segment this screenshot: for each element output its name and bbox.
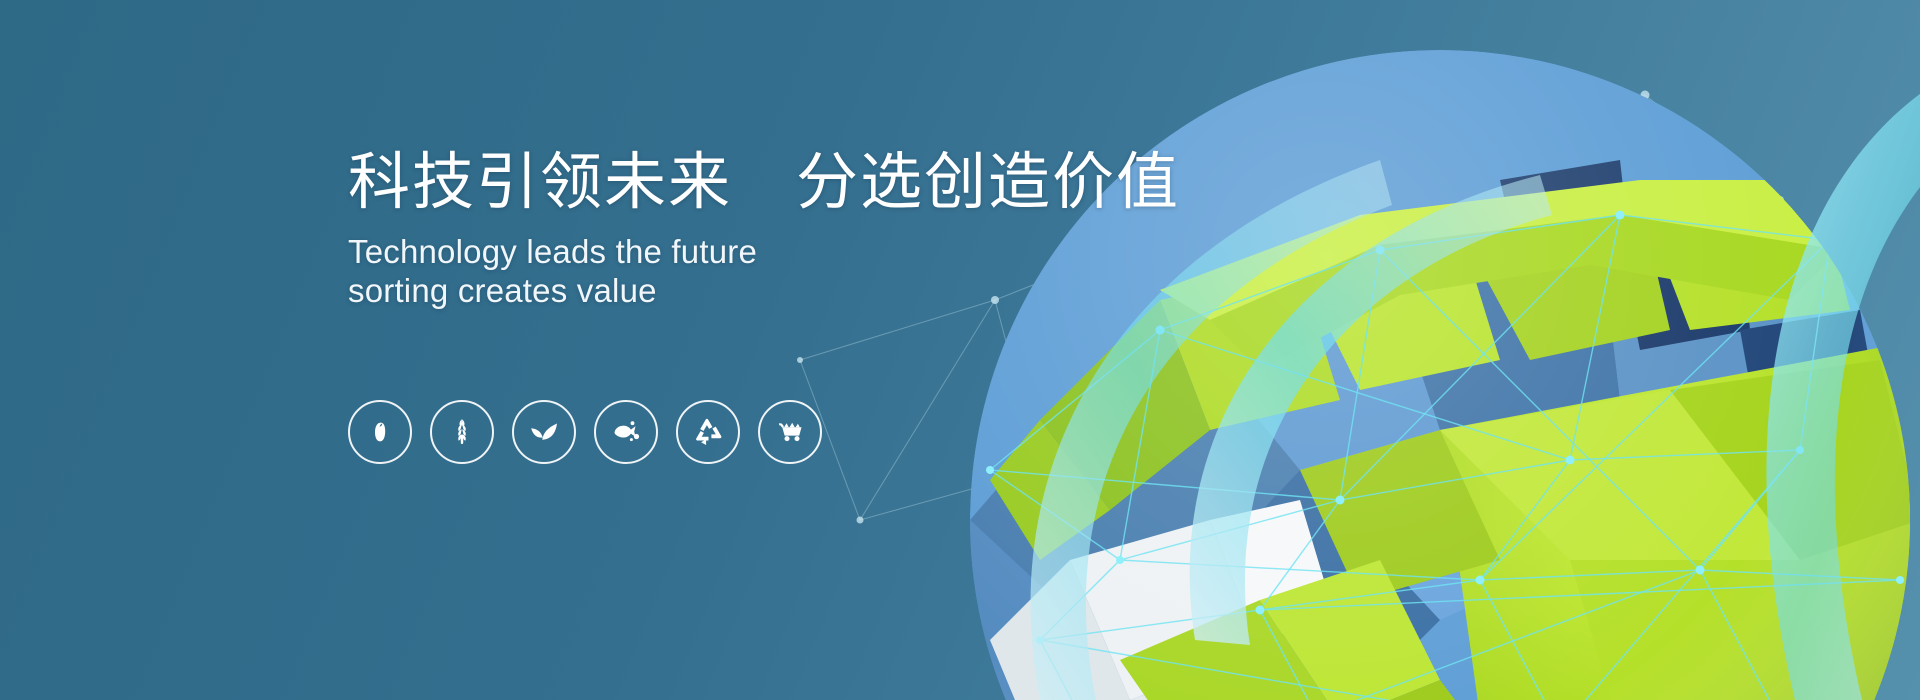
icon-badge-fish[interactable] xyxy=(594,400,658,464)
icon-badge-ore-cart[interactable] xyxy=(758,400,822,464)
ore-cart-icon xyxy=(773,415,807,449)
ribbon-arc-top xyxy=(1766,80,1920,700)
industry-icon-row xyxy=(348,400,822,464)
icon-badge-recycle[interactable] xyxy=(676,400,740,464)
hero-subtitle: Technology leads the future sorting crea… xyxy=(348,232,1168,311)
icon-badge-wheat[interactable] xyxy=(430,400,494,464)
ribbon-arc-left xyxy=(1190,175,1552,645)
subtitle-line-2: sorting creates value xyxy=(348,271,1168,311)
subtitle-line-1: Technology leads the future xyxy=(348,232,1168,272)
icon-badge-rice-grain[interactable] xyxy=(348,400,412,464)
icon-badge-tea-leaf[interactable] xyxy=(512,400,576,464)
low-poly-globe-illustration xyxy=(740,0,1920,700)
page-title: 科技引领未来 分选创造价值 xyxy=(348,150,1168,216)
tea-leaf-icon xyxy=(527,415,561,449)
fish-icon xyxy=(609,415,643,449)
wheat-icon xyxy=(446,416,478,448)
globe-ice-facets xyxy=(990,500,1330,700)
hero-banner: 科技引领未来 分选创造价值 Technology leads the futur… xyxy=(0,0,1920,700)
rice-grain-icon xyxy=(365,417,395,447)
recycle-icon xyxy=(692,416,724,448)
hero-copy: 科技引领未来 分选创造价值 Technology leads the futur… xyxy=(348,150,1168,311)
